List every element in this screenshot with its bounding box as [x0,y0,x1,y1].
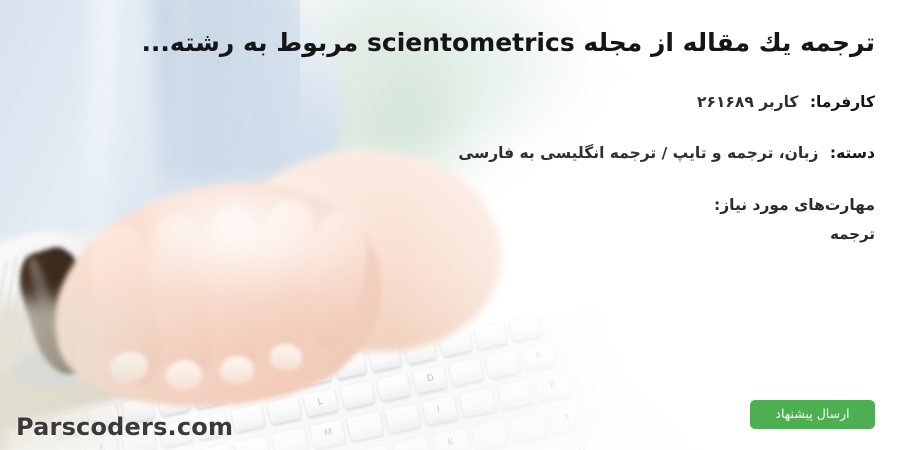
parscoders-logo: Parscoders.com [16,413,233,441]
project-banner: EOLDKXCMIEOLDKXCMIEO ترجمه يك مقاله از م… [0,0,900,450]
skills-label: مهارت‌های مورد نیاز: [120,196,875,214]
employer-row: کارفرما: کاربر ۲۶۱۶۸۹ [120,93,875,111]
banner-content: ترجمه يك مقاله از مجله scientometrics مر… [0,0,900,450]
category-label: دسته: [830,144,875,162]
employer-label: کارفرما: [810,93,875,111]
category-row: دسته: زبان، ترجمه و تایپ / ترجمه انگلیسی… [120,144,875,162]
category-value: زبان، ترجمه و تایپ / ترجمه انگلیسی به فا… [458,144,824,162]
skills-value: ترجمه [120,225,875,243]
submit-proposal-button[interactable]: ارسال پیشنهاد [750,400,875,429]
project-title: ترجمه يك مقاله از مجله scientometrics مر… [60,27,875,58]
employer-value: کاربر ۲۶۱۶۸۹ [697,93,804,111]
